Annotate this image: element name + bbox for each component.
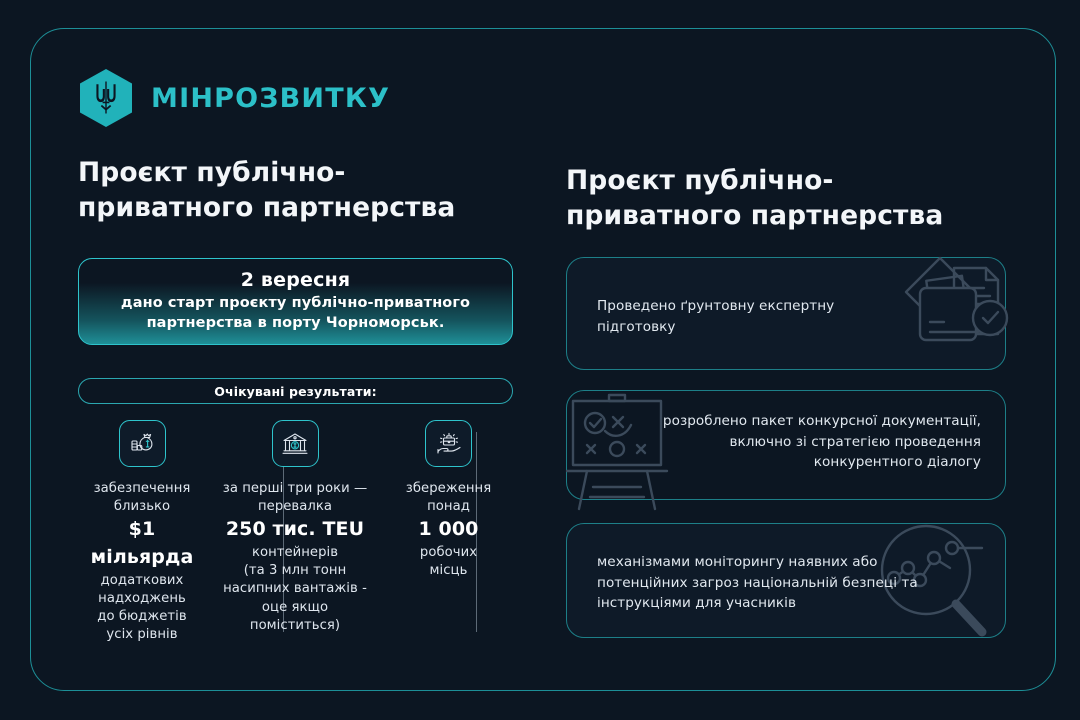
stat-item: забезпечення близько $1 мільярда додатко… bbox=[78, 420, 206, 644]
stat-highlight: 1 000 bbox=[406, 516, 491, 544]
stat-text: за перші три роки — перевалка 250 тис. T… bbox=[223, 480, 367, 635]
stat-line-before: забезпечення близько bbox=[94, 481, 191, 514]
stat-line-after: додаткових надходжень до бюджетів усіх р… bbox=[97, 573, 186, 643]
expected-results-label: Очікувані результати: bbox=[214, 384, 376, 399]
card-text: Проведено ґрунтовну експертну підготовку bbox=[597, 296, 897, 337]
preparation-card: Проведено ґрунтовну експертну підготовку bbox=[566, 257, 1006, 370]
right-section-title: Проєкт публічно-приватного партнерства bbox=[566, 163, 1006, 233]
statistics-row: забезпечення близько $1 мільярда додатко… bbox=[78, 420, 513, 644]
stat-line-before: за перші три роки — перевалка bbox=[223, 481, 367, 514]
stat-line-after: робочих місць bbox=[420, 545, 477, 578]
ukraine-trident-hexagon-icon bbox=[78, 68, 134, 128]
stat-item: за перші три роки — перевалка 250 тис. T… bbox=[206, 420, 384, 644]
stat-text: забезпечення близько $1 мільярда додатко… bbox=[84, 480, 200, 644]
expected-results-pill: Очікувані результати: bbox=[78, 378, 513, 404]
documentation-card: розроблено пакет конкурсної документації… bbox=[566, 390, 1006, 500]
launch-date-card: 2 вересня дано старт проєкту публічно-пр… bbox=[78, 258, 513, 345]
stat-text: збереження понад 1 000 робочих місць bbox=[406, 480, 491, 580]
monitoring-card: механізмами моніторингу наявних або поте… bbox=[566, 523, 1006, 638]
launch-date: 2 вересня bbox=[241, 269, 351, 291]
card-text: розроблено пакет конкурсної документації… bbox=[661, 411, 981, 473]
brand-name: МІНРОЗВИТКУ bbox=[151, 83, 390, 114]
stat-highlight: 250 тис. TEU bbox=[223, 516, 367, 544]
stat-item: збереження понад 1 000 робочих місць bbox=[384, 420, 513, 644]
left-column: Проєкт публічно-приватного партнерства bbox=[78, 155, 518, 225]
documents-folder-check-icon bbox=[888, 240, 1023, 360]
stat-line-after: контейнерів (та 3 млн тонн насипних вант… bbox=[223, 545, 367, 633]
brand-logo: МІНРОЗВИТКУ bbox=[78, 68, 390, 128]
money-bag-icon bbox=[119, 420, 166, 467]
launch-description: дано старт проєкту публічно-приватного п… bbox=[79, 294, 512, 333]
left-section-title: Проєкт публічно-приватного партнерства bbox=[78, 155, 518, 225]
hand-briefcase-icon bbox=[425, 420, 472, 467]
stat-highlight: $1 мільярда bbox=[84, 516, 200, 571]
bank-building-icon bbox=[272, 420, 319, 467]
right-column: Проєкт публічно-приватного партнерства bbox=[566, 163, 1006, 233]
card-text: механізмами моніторингу наявних або поте… bbox=[597, 552, 927, 614]
stat-line-before: збереження понад bbox=[406, 481, 491, 514]
infographic-page: МІНРОЗВИТКУ Проєкт публічно-приватного п… bbox=[0, 0, 1080, 720]
